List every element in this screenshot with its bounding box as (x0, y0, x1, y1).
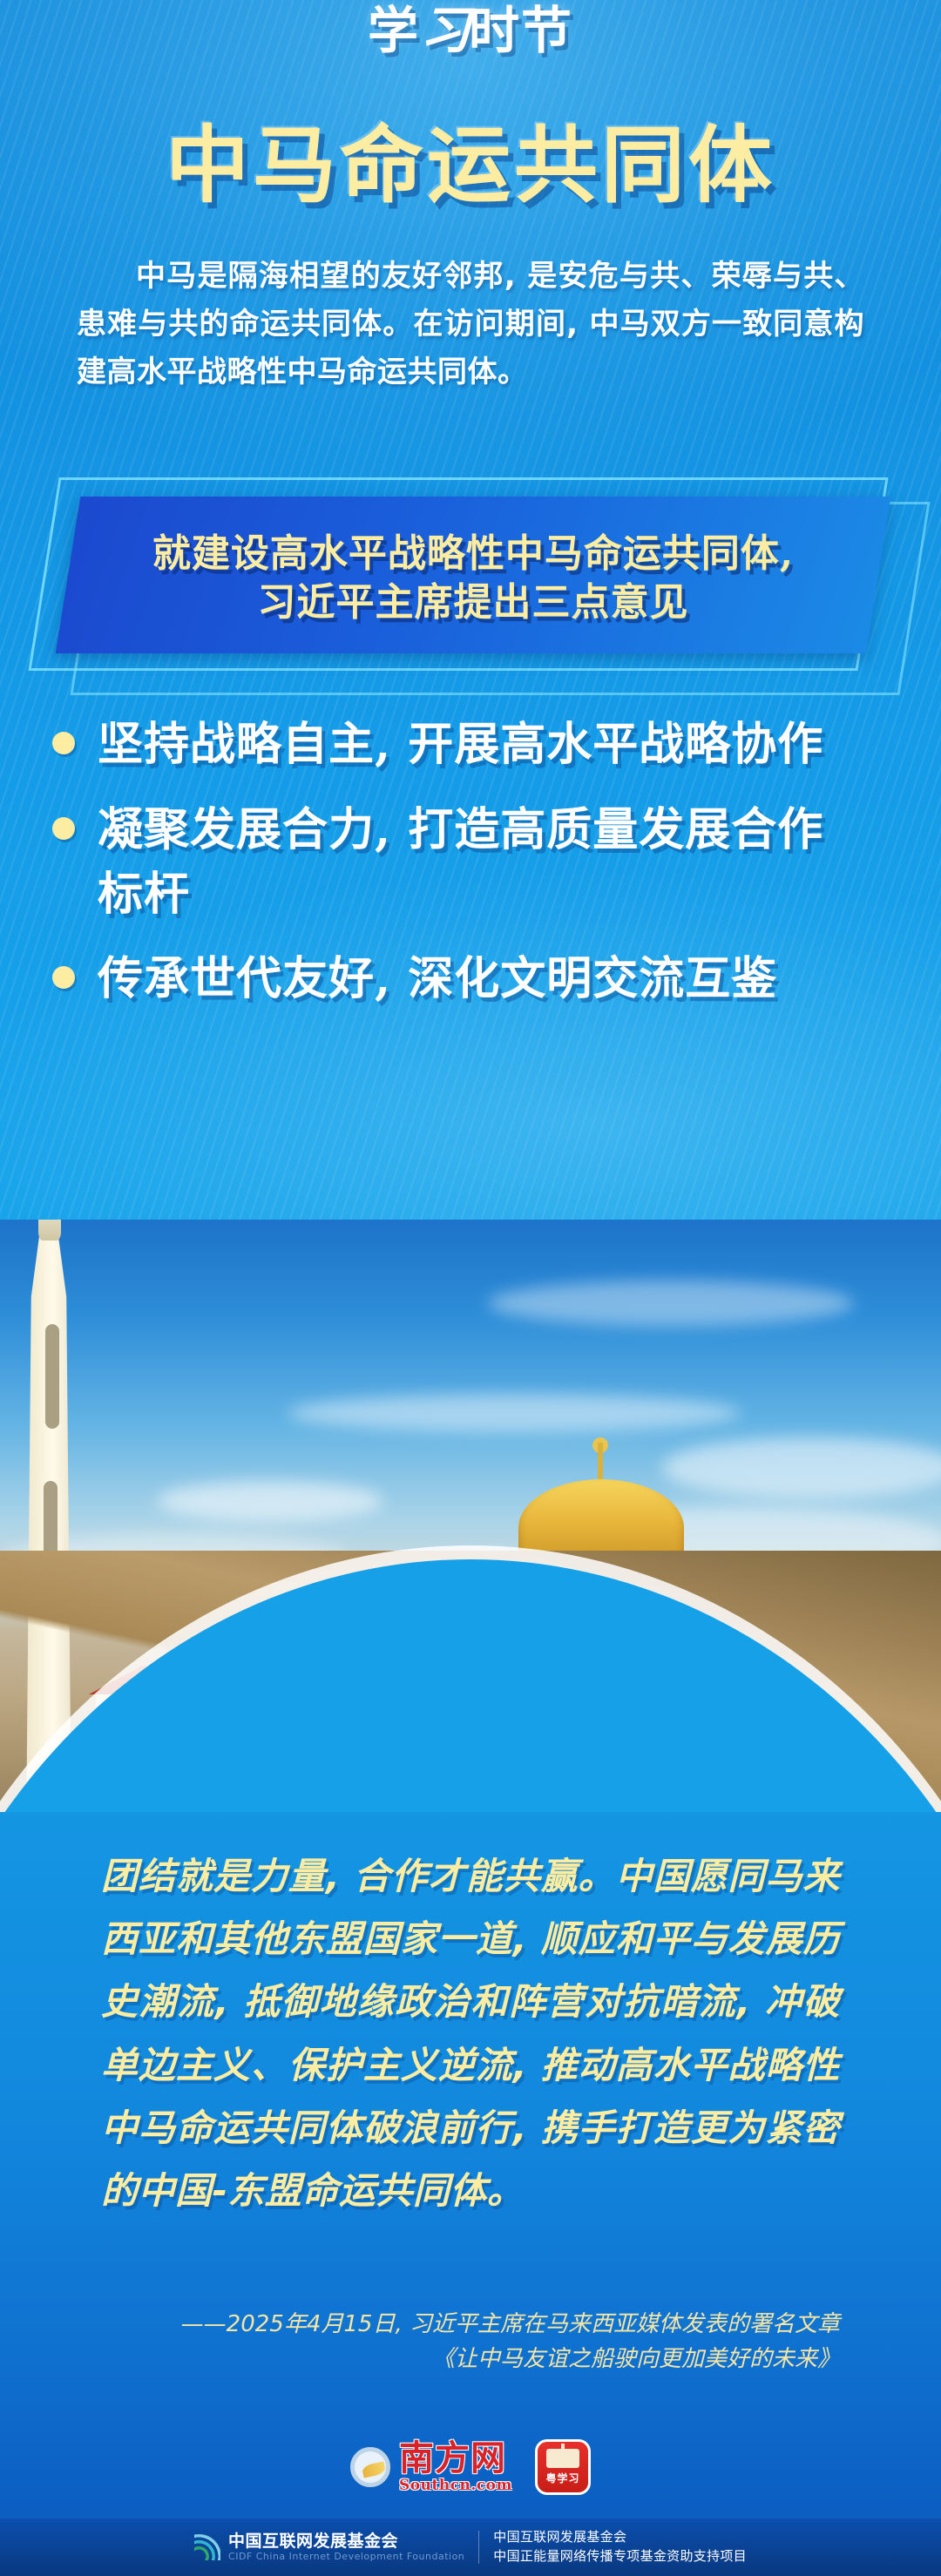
list-item: 传承世代友好, 深化文明交流互鉴 (52, 947, 889, 1011)
cidf-name-cn: 中国互联网发展基金会 (228, 2532, 464, 2552)
page-title: 中马命运共同体 (0, 122, 941, 210)
bullet-label: 凝聚发展合力, 打造高质量发展合作标杆 (98, 798, 829, 927)
brand-char-shijie: 时节 (469, 1, 573, 60)
cidf-logo[interactable]: 中国互联网发展基金会 CIDF China Internet Developme… (194, 2532, 464, 2562)
cidf-name-en: CIDF China Internet Development Foundati… (228, 2552, 464, 2563)
banner-text-group: 就建设高水平战略性中马命运共同体, 习近平主席提出三点意见 (68, 500, 878, 657)
sponsor-bar: 中国互联网发展基金会 CIDF China Internet Developme… (0, 2519, 941, 2576)
quote-attribution: ——2025年4月15日, 习近平主席在马来西亚媒体发表的署名文章 《让中马友谊… (101, 2307, 840, 2377)
cloud (488, 1281, 854, 1326)
footer-logo-row: 南方网 Southcn.com 粤学习 (0, 2439, 941, 2495)
bullet-list: 坚持战略自主, 开展高水平战略协作 凝聚发展合力, 打造高质量发展合作标杆 传承… (52, 713, 889, 1032)
banner-line-2: 习近平主席提出三点意见 (258, 578, 689, 627)
southcn-name-cn: 南方网 (399, 2441, 512, 2476)
footer-divider (478, 2531, 479, 2564)
book-icon (546, 2449, 579, 2468)
poster-canvas: 学习时节 中马命运共同体 中马是隔海相望的友好邻邦, 是安危与共、荣辱与共、患难… (0, 0, 941, 2576)
cloud (157, 1481, 383, 1521)
southcn-logo[interactable]: 南方网 Southcn.com (350, 2441, 512, 2493)
brand-char-xue: 学 (368, 1, 420, 60)
cidf-wave-icon (194, 2534, 220, 2560)
attribution-line-2: 《让中马友谊之船驶向更加美好的未来》 (101, 2342, 840, 2377)
mosque-photo (0, 1220, 941, 1812)
intro-paragraph: 中马是隔海相望的友好邻邦, 是安危与共、荣辱与共、患难与共的命运共同体。在访问期… (77, 253, 864, 396)
bullet-dot-icon (52, 817, 75, 840)
minaret-finial (38, 1220, 61, 1241)
quote-text: 团结就是力量, 合作才能共赢。中国愿同马来西亚和其他东盟国家一道, 顺应和平与发… (101, 1845, 840, 2222)
cidf-wordmark: 中国互联网发展基金会 CIDF China Internet Developme… (228, 2532, 464, 2562)
banner-line-1: 就建设高水平战略性中马命运共同体, (152, 530, 794, 578)
southcn-emblem-icon (350, 2447, 390, 2487)
brand-logo: 学习时节 (0, 5, 941, 56)
sponsor-note-line-1: 中国互联网发展基金会 (493, 2528, 747, 2547)
bullet-label: 坚持战略自主, 开展高水平战略协作 (98, 713, 823, 777)
bullet-dot-icon (52, 732, 75, 754)
cloud (288, 1394, 741, 1432)
highlight-banner: 就建设高水平战略性中马命运共同体, 习近平主席提出三点意见 (33, 477, 910, 695)
list-item: 凝聚发展合力, 打造高质量发展合作标杆 (52, 798, 889, 927)
sponsor-note-line-2: 中国正能量网络传播专项基金资助支持项目 (493, 2547, 747, 2566)
minaret-window (45, 1324, 59, 1429)
attribution-line-1: ——2025年4月15日, 习近平主席在马来西亚媒体发表的署名文章 (101, 2307, 840, 2342)
sponsor-note: 中国互联网发展基金会 中国正能量网络传播专项基金资助支持项目 (493, 2528, 747, 2566)
dome-spire (598, 1443, 603, 1483)
bullet-dot-icon (52, 966, 75, 989)
brand-logo-text: 学习时节 (368, 5, 573, 56)
list-item: 坚持战略自主, 开展高水平战略协作 (52, 713, 889, 777)
yuexuexi-app-icon[interactable]: 粤学习 (535, 2439, 591, 2495)
southcn-wordmark: 南方网 Southcn.com (399, 2441, 512, 2493)
bullet-label: 传承世代友好, 深化文明交流互鉴 (98, 947, 777, 1011)
southcn-name-en: Southcn.com (399, 2478, 512, 2493)
yuexuexi-label: 粤学习 (545, 2471, 579, 2485)
page-title-text: 中马命运共同体 (166, 122, 775, 210)
brand-char-xi: 习 (420, 1, 469, 60)
